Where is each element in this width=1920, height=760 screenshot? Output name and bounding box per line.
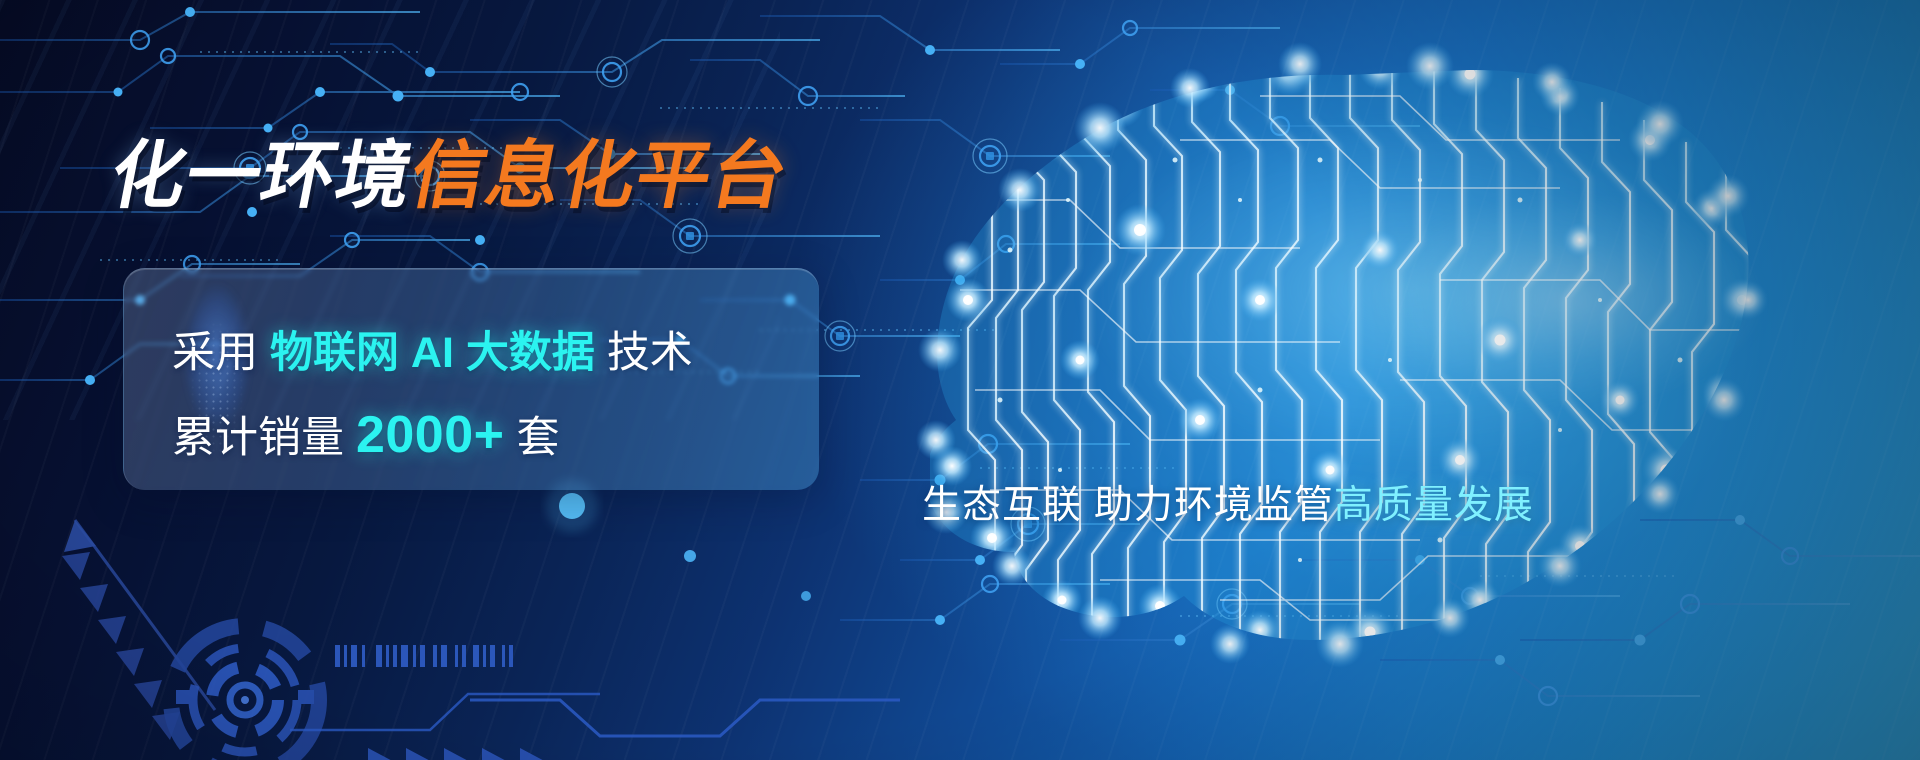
feature-line1-prefix: 采用 (172, 329, 258, 377)
feature-line2-suffix: 套 (516, 414, 559, 462)
marketing-banner: 化一环境信息化平台 采用 物联网 AI 大数据 技术 累计销量 2000+ 套 … (0, 0, 1920, 760)
feature-line2-highlight: 2000+ (356, 406, 505, 464)
page-title-white: 化一环境 (104, 134, 420, 217)
feature-info-card: 采用 物联网 AI 大数据 技术 累计销量 2000+ 套 (123, 268, 819, 490)
banner-tagline: 生态互联 助力环境监管高质量发展 (922, 486, 1534, 525)
tagline-cyan: 高质量发展 (1334, 484, 1534, 527)
tagline-white: 生态互联 助力环境监管 (922, 484, 1334, 527)
triangle-row-decoration (368, 748, 550, 760)
radar-dial-decoration (171, 626, 319, 760)
page-title: 化一环境信息化平台 (105, 139, 794, 213)
feature-line1-highlight: 物联网 AI 大数据 (270, 329, 595, 377)
feature-line1-suffix: 技术 (607, 329, 693, 377)
page-title-orange: 信息化平台 (404, 134, 795, 217)
brain-core-glow (1290, 150, 1850, 450)
diagonal-arrow-decoration (62, 520, 215, 740)
feature-line-technology: 采用 物联网 AI 大数据 技术 (172, 332, 693, 375)
feature-line2-prefix: 累计销量 (172, 414, 344, 462)
brain-glow-wash (860, 30, 1920, 550)
feature-line-sales: 累计销量 2000+ 套 (172, 409, 559, 461)
